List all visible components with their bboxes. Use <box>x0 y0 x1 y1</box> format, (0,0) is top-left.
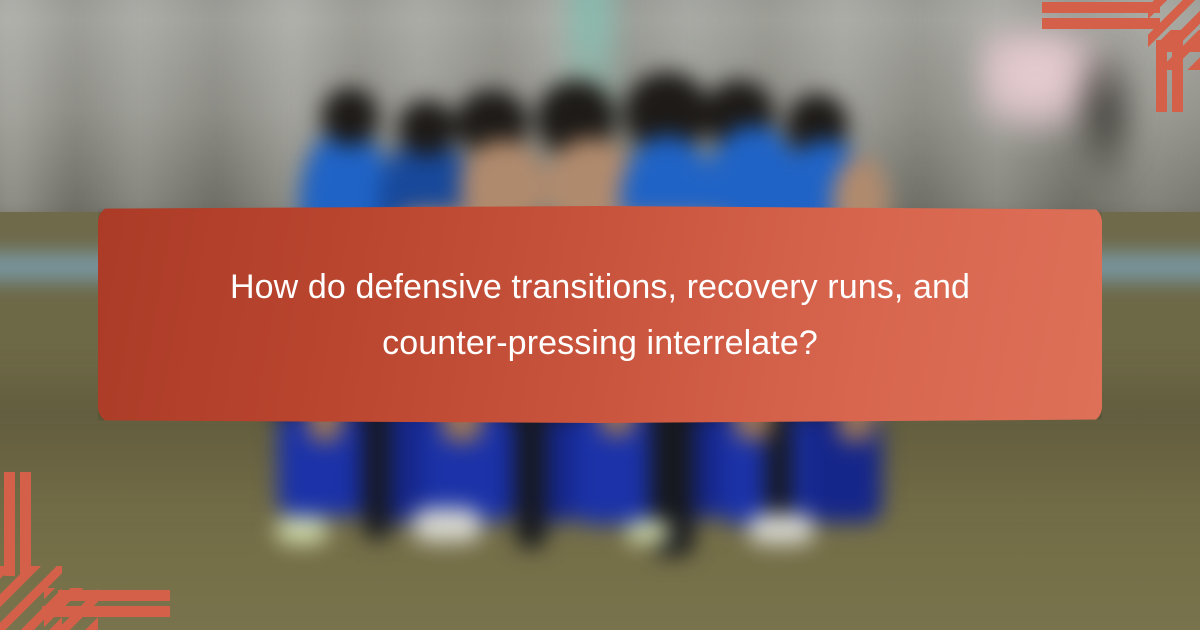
share-card: How do defensive transitions, recovery r… <box>0 0 1200 630</box>
corner-decor-top-right <box>1030 0 1200 112</box>
corner-hatch-bottom-left-extend <box>44 588 98 630</box>
headline-banner-inner: How do defensive transitions, recovery r… <box>98 259 1102 371</box>
corner-bar-vertical-3 <box>4 472 15 576</box>
headline-banner: How do defensive transitions, recovery r… <box>98 206 1102 423</box>
corner-decor-bottom-left <box>0 470 170 630</box>
headline-text: How do defensive transitions, recovery r… <box>210 259 990 371</box>
corner-hatch-top-right-extend <box>1156 30 1200 70</box>
corner-bar-horizontal-1 <box>1042 2 1160 13</box>
corner-bar-vertical-4 <box>20 472 31 576</box>
corner-bar-horizontal-2 <box>1042 18 1160 29</box>
